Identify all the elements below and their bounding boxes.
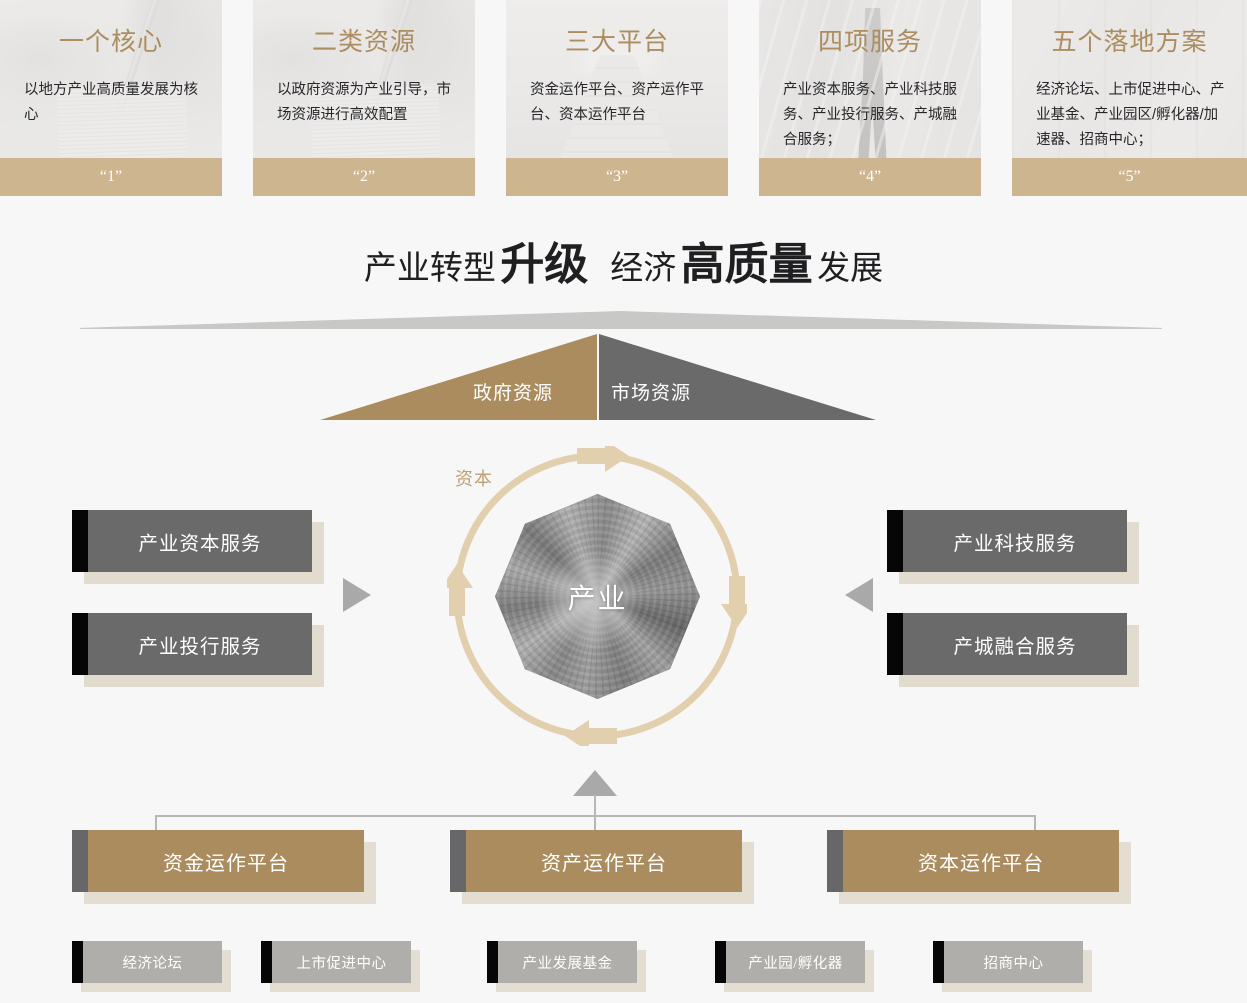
box-accent-bar [450, 830, 466, 892]
top-card-badge: “1” [0, 158, 222, 196]
market-resource-triangle[interactable] [599, 334, 876, 420]
top-cards-row: 一个核心 以地方产业高质量发展为核心 “1” 二类资源 以政府资源为产业引导，市… [0, 0, 1247, 196]
top-card-desc: 以政府资源为产业引导，市场资源进行高效配置 [277, 78, 457, 128]
market-resource-label: 市场资源 [611, 378, 691, 405]
top-card-badge: “2” [253, 158, 475, 196]
box-accent-bar [261, 941, 272, 983]
ring-arrow-right-down-icon [721, 576, 747, 628]
service-box-industry-technology[interactable]: 产业科技服务 [887, 510, 1127, 572]
top-card-title: 五个落地方案 [1012, 22, 1247, 58]
top-card[interactable]: 四项服务 产业资本服务、产业科技服务、产业投行服务、产城融合服务； “4” [759, 0, 981, 196]
arrow-up-icon [573, 770, 617, 796]
bottom-box-industry-development-fund[interactable]: 产业发展基金 [487, 941, 637, 983]
connector-vertical-main [594, 794, 596, 816]
bottom-box-label: 经济论坛 [83, 941, 222, 983]
platform-box-fund-operation[interactable]: 资金运作平台 [72, 830, 364, 892]
service-box-industry-capital[interactable]: 产业资本服务 [72, 510, 312, 572]
bottom-box-industrial-park-incubator[interactable]: 产业园/孵化器 [715, 941, 865, 983]
top-card[interactable]: 五个落地方案 经济论坛、上市促进中心、产业基金、产业园区/孵化器/加速器、招商中… [1012, 0, 1247, 196]
top-card-desc: 资金运作平台、资产运作平台、资本运作平台 [530, 78, 710, 128]
platform-box-label: 资本运作平台 [843, 830, 1119, 892]
bottom-box-ipo-promotion-center[interactable]: 上市促进中心 [261, 941, 411, 983]
top-card-desc: 经济论坛、上市促进中心、产业基金、产业园区/孵化器/加速器、招商中心； [1036, 78, 1229, 153]
service-box-industry-investment-banking[interactable]: 产业投行服务 [72, 613, 312, 675]
page-title-part-5: 发展 [817, 249, 883, 286]
box-accent-bar [933, 941, 944, 983]
top-card-badge: “3” [506, 158, 728, 196]
box-accent-bar [72, 613, 88, 675]
box-accent-bar [72, 941, 83, 983]
box-accent-bar [72, 830, 88, 892]
industry-cycle-group: 产业 资本 [425, 424, 770, 769]
top-card-title: 一个核心 [0, 22, 222, 58]
top-card-desc: 产业资本服务、产业科技服务、产业投行服务、产城融合服务； [783, 78, 963, 153]
top-card-title: 三大平台 [506, 22, 728, 58]
bottom-box-investment-attraction-center[interactable]: 招商中心 [933, 941, 1083, 983]
bottom-box-economic-forum[interactable]: 经济论坛 [72, 941, 222, 983]
ring-arrow-top-right-icon [577, 446, 629, 472]
ring-arrow-left-up-icon [447, 564, 473, 616]
bottom-box-label: 招商中心 [944, 941, 1083, 983]
top-card-badge: “4” [759, 158, 981, 196]
top-card-title: 二类资源 [253, 22, 475, 58]
pyramid-top-band [80, 311, 1162, 329]
government-resource-label: 政府资源 [473, 378, 553, 405]
bottom-box-label: 产业发展基金 [498, 941, 637, 983]
top-card-desc: 以地方产业高质量发展为核心 [24, 78, 204, 128]
box-accent-bar [715, 941, 726, 983]
top-card-title: 四项服务 [759, 22, 981, 58]
top-card[interactable]: 一个核心 以地方产业高质量发展为核心 “1” [0, 0, 222, 196]
top-card-badge: “5” [1012, 158, 1247, 196]
platform-box-asset-operation[interactable]: 资产运作平台 [450, 830, 742, 892]
arrow-left-icon [845, 578, 873, 612]
box-accent-bar [887, 510, 903, 572]
service-box-industry-city-integration[interactable]: 产城融合服务 [887, 613, 1127, 675]
top-card[interactable]: 三大平台 资金运作平台、资产运作平台、资本运作平台 “3” [506, 0, 728, 196]
platform-box-capital-operation[interactable]: 资本运作平台 [827, 830, 1119, 892]
box-accent-bar [487, 941, 498, 983]
top-card[interactable]: 二类资源 以政府资源为产业引导，市场资源进行高效配置 “2” [253, 0, 475, 196]
industry-core-label: 产业 [495, 494, 700, 699]
bottom-box-label: 产业园/孵化器 [726, 941, 865, 983]
page-title-part-2: 升级 [500, 240, 588, 289]
page-title-part-4: 高质量 [681, 240, 813, 289]
arrow-right-icon [343, 578, 371, 612]
service-box-label: 产业资本服务 [88, 510, 312, 572]
government-resource-triangle[interactable] [320, 334, 597, 420]
service-box-label: 产业科技服务 [903, 510, 1127, 572]
box-accent-bar [887, 613, 903, 675]
page-title: 产业转型 升级 经济 高质量 发展 [0, 228, 1247, 292]
page-title-part-3: 经济 [610, 249, 676, 286]
box-accent-bar [827, 830, 843, 892]
service-box-label: 产业投行服务 [88, 613, 312, 675]
industry-core-octagon[interactable]: 产业 [495, 494, 700, 699]
platform-box-label: 资产运作平台 [466, 830, 742, 892]
capital-cycle-label: 资本 [455, 465, 493, 491]
ring-arrow-bottom-left-icon [565, 720, 617, 746]
page-title-part-1: 产业转型 [364, 249, 496, 286]
platform-box-label: 资金运作平台 [88, 830, 364, 892]
box-accent-bar [72, 510, 88, 572]
service-box-label: 产城融合服务 [903, 613, 1127, 675]
bottom-box-label: 上市促进中心 [272, 941, 411, 983]
